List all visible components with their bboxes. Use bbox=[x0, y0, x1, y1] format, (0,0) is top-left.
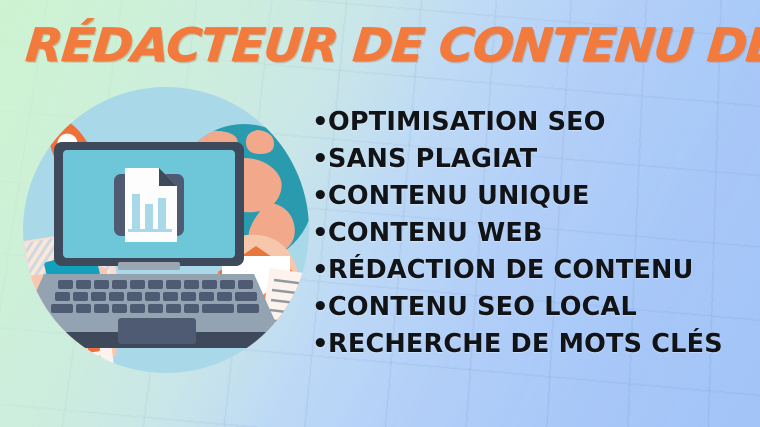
list-item: • SANS PLAGIAT bbox=[312, 141, 752, 178]
bullet-icon: • bbox=[312, 289, 328, 326]
services-list: • OPTIMISATION SEO • SANS PLAGIAT • CONT… bbox=[312, 104, 752, 363]
list-item: • RECHERCHE DE MOTS CLÉS bbox=[312, 326, 752, 363]
list-item: • CONTENU WEB bbox=[312, 215, 752, 252]
poster-canvas: RÉDACTEUR DE CONTENU DE SITE WEB bbox=[0, 0, 760, 427]
list-item-label: RÉDACTION DE CONTENU bbox=[328, 252, 694, 289]
bullet-icon: • bbox=[312, 104, 328, 141]
document-chart-icon bbox=[114, 168, 184, 242]
bullet-icon: • bbox=[312, 178, 328, 215]
list-item: • CONTENU SEO LOCAL bbox=[312, 289, 752, 326]
laptop-content-writing-illustration bbox=[22, 86, 310, 374]
bullet-icon: • bbox=[312, 215, 328, 252]
list-item-label: SANS PLAGIAT bbox=[328, 141, 537, 178]
page-title: RÉDACTEUR DE CONTENU DE SITE WEB bbox=[24, 22, 756, 68]
bullet-icon: • bbox=[312, 141, 328, 178]
list-item-label: CONTENU UNIQUE bbox=[328, 178, 590, 215]
bullet-icon: • bbox=[312, 326, 328, 363]
list-item-label: CONTENU SEO LOCAL bbox=[328, 289, 637, 326]
bullet-icon: • bbox=[312, 252, 328, 289]
list-item-label: RECHERCHE DE MOTS CLÉS bbox=[328, 326, 723, 363]
list-item: • OPTIMISATION SEO bbox=[312, 104, 752, 141]
list-item: • RÉDACTION DE CONTENU bbox=[312, 252, 752, 289]
list-item-label: CONTENU WEB bbox=[328, 215, 543, 252]
laptop-icon bbox=[22, 142, 280, 348]
list-item: • CONTENU UNIQUE bbox=[312, 178, 752, 215]
list-item-label: OPTIMISATION SEO bbox=[328, 104, 606, 141]
